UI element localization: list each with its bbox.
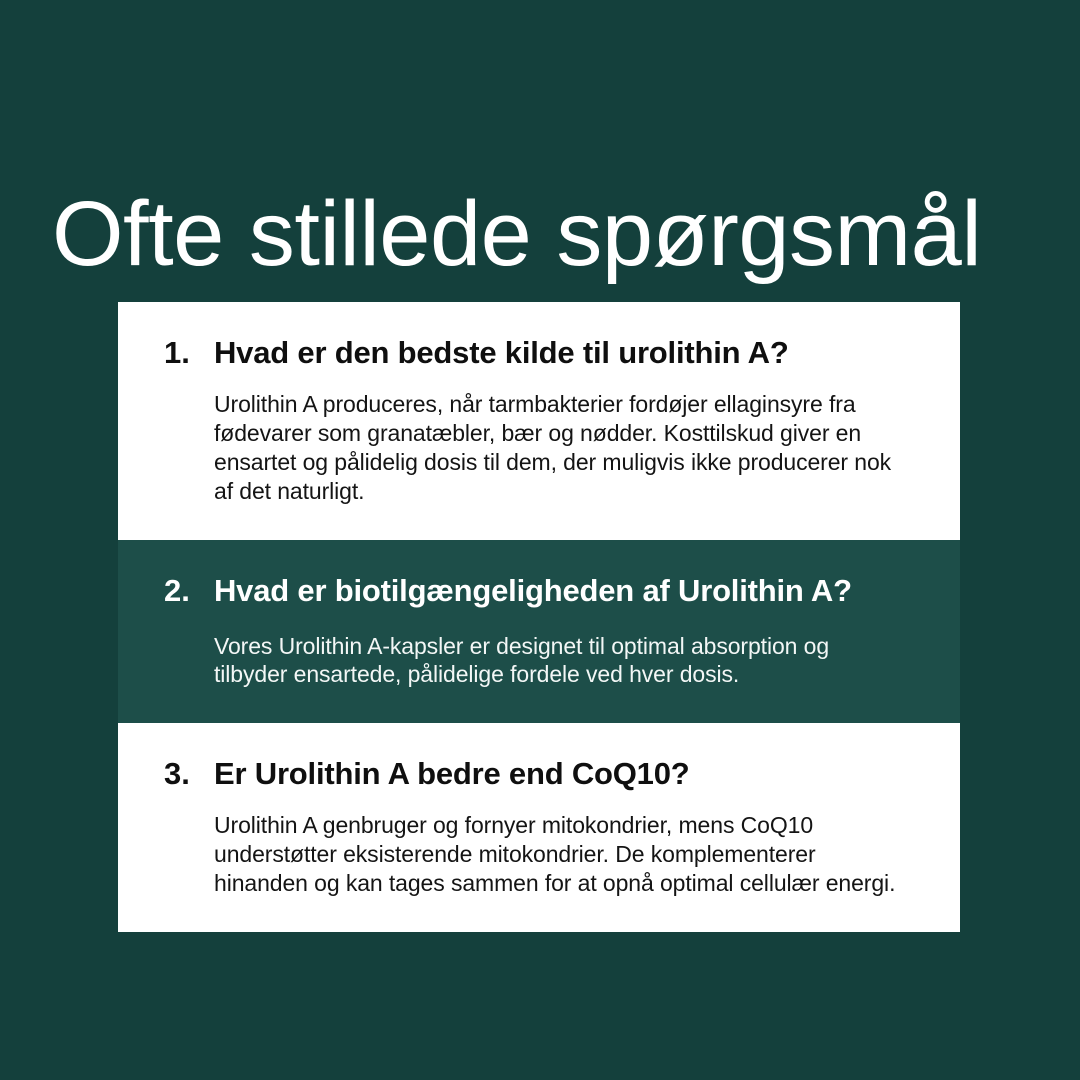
faq-item[interactable]: 2. Hvad er biotilgængeligheden af Urolit… xyxy=(118,540,960,724)
faq-page: Ofte stillede spørgsmål 1. Hvad er den b… xyxy=(0,0,1080,1080)
faq-answer: Urolithin A genbruger og fornyer mitokon… xyxy=(214,811,914,898)
faq-list: 1. Hvad er den bedste kilde til urolithi… xyxy=(118,302,960,932)
faq-heading-row: 2. Hvad er biotilgængeligheden af Urolit… xyxy=(164,572,914,610)
faq-answer: Urolithin A produceres, når tarmbakterie… xyxy=(214,390,914,506)
faq-question: Er Urolithin A bedre end CoQ10? xyxy=(214,755,914,793)
faq-item-number: 3. xyxy=(164,755,214,793)
faq-answer: Vores Urolithin A-kapsler er designet ti… xyxy=(214,632,914,690)
faq-item-number: 2. xyxy=(164,572,214,610)
faq-item[interactable]: 3. Er Urolithin A bedre end CoQ10? Uroli… xyxy=(118,723,960,932)
faq-question: Hvad er den bedste kilde til urolithin A… xyxy=(214,334,914,372)
faq-heading-row: 1. Hvad er den bedste kilde til urolithi… xyxy=(164,334,914,372)
page-title: Ofte stillede spørgsmål xyxy=(52,186,1042,283)
faq-item[interactable]: 1. Hvad er den bedste kilde til urolithi… xyxy=(118,302,960,540)
faq-heading-row: 3. Er Urolithin A bedre end CoQ10? xyxy=(164,755,914,793)
faq-item-number: 1. xyxy=(164,334,214,372)
faq-question: Hvad er biotilgængeligheden af Urolithin… xyxy=(214,572,914,610)
